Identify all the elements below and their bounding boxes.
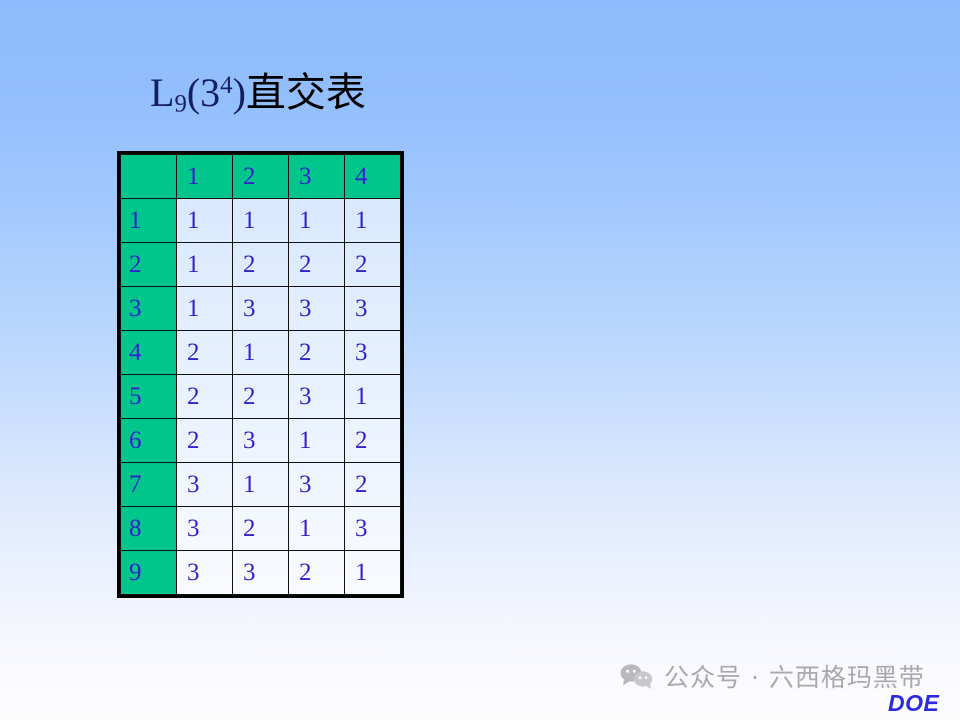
- cell-r4-c2: 1: [233, 331, 289, 375]
- cell-r9-c3: 2: [289, 551, 345, 595]
- title-cjk-part: 直交表: [246, 70, 366, 116]
- table-row: 8 3 2 1 3: [121, 507, 401, 551]
- cell-r1-c3: 1: [289, 199, 345, 243]
- page-title: L9(34)直交表: [150, 73, 366, 117]
- cell-r5-c1: 2: [177, 375, 233, 419]
- column-header-4: 4: [345, 155, 401, 199]
- column-header-2: 2: [233, 155, 289, 199]
- oa-grid: 1 2 3 4 1 1 1 1 1 2 1 2 2 2: [120, 154, 401, 595]
- wechat-icon: [620, 663, 654, 689]
- column-header-3: 3: [289, 155, 345, 199]
- cell-r1-c1: 1: [177, 199, 233, 243]
- column-header-1: 1: [177, 155, 233, 199]
- cell-r1-c2: 1: [233, 199, 289, 243]
- table-row: 7 3 1 3 2: [121, 463, 401, 507]
- cell-r8-c3: 1: [289, 507, 345, 551]
- table-row: 6 2 3 1 2: [121, 419, 401, 463]
- oa-body: 1 2 3 4 1 1 1 1 1 2 1 2 2 2: [121, 155, 401, 595]
- table-row: 5 2 2 3 1: [121, 375, 401, 419]
- cell-r2-c3: 2: [289, 243, 345, 287]
- orthogonal-array-table: 1 2 3 4 1 1 1 1 1 2 1 2 2 2: [117, 151, 404, 598]
- cell-r2-c4: 2: [345, 243, 401, 287]
- cell-r4-c4: 3: [345, 331, 401, 375]
- row-label-9: 9: [121, 551, 177, 595]
- row-label-6: 6: [121, 419, 177, 463]
- cell-r5-c3: 3: [289, 375, 345, 419]
- cell-r6-c2: 3: [233, 419, 289, 463]
- table-header-row: 1 2 3 4: [121, 155, 401, 199]
- cell-r3-c3: 3: [289, 287, 345, 331]
- cell-r7-c4: 2: [345, 463, 401, 507]
- cell-r4-c3: 2: [289, 331, 345, 375]
- table-row: 1 1 1 1 1: [121, 199, 401, 243]
- cell-r2-c1: 1: [177, 243, 233, 287]
- title-latin-subscript: 9: [174, 90, 186, 117]
- row-label-3: 3: [121, 287, 177, 331]
- table-row: 3 1 3 3 3: [121, 287, 401, 331]
- row-label-8: 8: [121, 507, 177, 551]
- cell-r9-c4: 1: [345, 551, 401, 595]
- row-label-2: 2: [121, 243, 177, 287]
- cell-r5-c4: 1: [345, 375, 401, 419]
- slide-canvas: L9(34)直交表 1 2 3 4 1 1 1 1 1: [0, 0, 960, 720]
- row-label-1: 1: [121, 199, 177, 243]
- title-paren-close: ): [233, 70, 246, 115]
- cell-r1-c4: 1: [345, 199, 401, 243]
- title-latin-superscript: 4: [220, 72, 232, 99]
- cell-r7-c3: 3: [289, 463, 345, 507]
- row-label-5: 5: [121, 375, 177, 419]
- doe-label: DOE: [888, 690, 939, 717]
- table-corner-cell: [121, 155, 177, 199]
- cell-r9-c2: 3: [233, 551, 289, 595]
- cell-r6-c1: 2: [177, 419, 233, 463]
- table-row: 4 2 1 2 3: [121, 331, 401, 375]
- table-row: 2 1 2 2 2: [121, 243, 401, 287]
- cell-r9-c1: 3: [177, 551, 233, 595]
- cell-r3-c4: 3: [345, 287, 401, 331]
- row-label-7: 7: [121, 463, 177, 507]
- cell-r8-c2: 2: [233, 507, 289, 551]
- cell-r8-c1: 3: [177, 507, 233, 551]
- title-paren-open: (3: [187, 70, 220, 115]
- cell-r3-c2: 3: [233, 287, 289, 331]
- cell-r7-c1: 3: [177, 463, 233, 507]
- title-latin-base: L: [150, 70, 174, 115]
- cell-r8-c4: 3: [345, 507, 401, 551]
- cell-r7-c2: 1: [233, 463, 289, 507]
- title-latin-part: L9(34): [150, 70, 246, 115]
- cell-r4-c1: 2: [177, 331, 233, 375]
- cell-r3-c1: 1: [177, 287, 233, 331]
- cell-r5-c2: 2: [233, 375, 289, 419]
- cell-r2-c2: 2: [233, 243, 289, 287]
- cell-r6-c3: 1: [289, 419, 345, 463]
- cell-r6-c4: 2: [345, 419, 401, 463]
- watermark-text: 公众号 · 六西格玛黑带: [664, 658, 925, 694]
- row-label-4: 4: [121, 331, 177, 375]
- table-row: 9 3 3 2 1: [121, 551, 401, 595]
- watermark: 公众号 · 六西格玛黑带: [620, 658, 925, 694]
